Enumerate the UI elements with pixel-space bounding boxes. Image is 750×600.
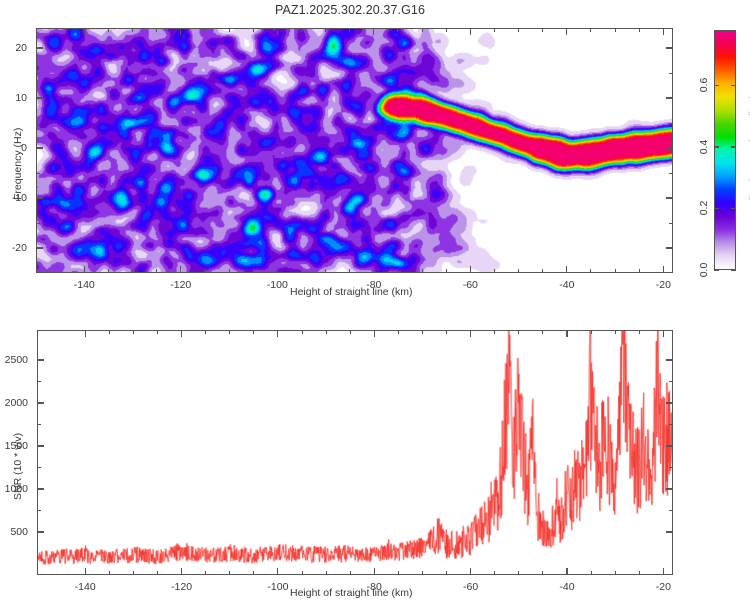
x-tick-minor xyxy=(590,269,591,273)
y-tick-minor xyxy=(669,223,673,224)
x-tick-major xyxy=(181,568,182,575)
x-tick-minor xyxy=(350,571,351,575)
y-tick-major xyxy=(666,445,673,446)
x-tick-minor xyxy=(325,28,326,32)
x-tick-minor xyxy=(132,269,133,273)
y-tick-label: 2500 xyxy=(0,354,28,366)
x-tick-minor xyxy=(132,28,133,32)
x-tick-major xyxy=(84,28,85,35)
x-tick-minor xyxy=(397,28,398,32)
snr-x-axis-title: Height of straight line (km) xyxy=(290,587,413,599)
y-tick-major xyxy=(36,247,43,248)
x-tick-label: -20 xyxy=(656,279,671,291)
colorbar-tick-label: 0.0 xyxy=(698,263,710,278)
x-tick-minor xyxy=(109,330,110,334)
spectrogram-plot xyxy=(36,28,673,273)
x-tick-minor xyxy=(542,28,543,32)
y-tick-minor xyxy=(669,510,673,511)
x-tick-minor xyxy=(350,330,351,334)
x-tick-label: -40 xyxy=(559,581,574,593)
x-tick-minor xyxy=(591,330,592,334)
x-tick-minor xyxy=(301,269,302,273)
x-tick-minor xyxy=(494,571,495,575)
y-tick-major xyxy=(36,47,43,48)
colorbar-gradient xyxy=(715,31,735,269)
x-tick-minor xyxy=(349,269,350,273)
spectrogram-image xyxy=(37,29,672,272)
colorbar xyxy=(714,30,736,270)
y-tick-major xyxy=(36,97,43,98)
snr-plot xyxy=(37,330,673,575)
colorbar-tick-label: 0.6 xyxy=(698,78,710,93)
x-tick-minor xyxy=(398,330,399,334)
x-tick-minor xyxy=(108,28,109,32)
y-tick-minor xyxy=(669,467,673,468)
y-tick-label: 20 xyxy=(0,42,27,54)
x-tick-major xyxy=(566,330,567,337)
x-tick-label: -100 xyxy=(267,279,288,291)
y-tick-major xyxy=(36,147,43,148)
x-tick-minor xyxy=(253,269,254,273)
x-tick-major xyxy=(373,266,374,273)
x-tick-minor xyxy=(615,269,616,273)
x-tick-label: -40 xyxy=(559,279,574,291)
x-tick-major xyxy=(181,330,182,337)
y-tick-minor xyxy=(36,123,40,124)
y-tick-major xyxy=(666,402,673,403)
y-tick-minor xyxy=(669,123,673,124)
colorbar-tick-label: 0.4 xyxy=(698,140,710,155)
x-tick-minor xyxy=(518,571,519,575)
y-tick-minor xyxy=(37,467,41,468)
x-tick-minor xyxy=(422,269,423,273)
x-tick-minor xyxy=(205,330,206,334)
x-tick-major xyxy=(85,330,86,337)
spectrogram-y-axis-title: Frequency (Hz) xyxy=(12,128,24,200)
x-tick-label: -120 xyxy=(171,581,192,593)
x-tick-minor xyxy=(109,571,110,575)
x-tick-major xyxy=(663,568,664,575)
x-tick-minor xyxy=(326,571,327,575)
x-tick-minor xyxy=(542,330,543,334)
x-tick-label: -140 xyxy=(74,279,95,291)
x-tick-minor xyxy=(302,571,303,575)
colorbar-tick xyxy=(714,269,719,270)
x-tick-minor xyxy=(133,571,134,575)
x-tick-minor xyxy=(494,28,495,32)
y-tick-major xyxy=(666,359,673,360)
x-tick-minor xyxy=(494,330,495,334)
x-tick-minor xyxy=(229,28,230,32)
colorbar-tick xyxy=(731,85,736,86)
y-tick-minor xyxy=(36,73,40,74)
x-tick-major xyxy=(663,28,664,35)
x-tick-minor xyxy=(518,330,519,334)
y-tick-major xyxy=(37,488,44,489)
colorbar-tick xyxy=(714,85,719,86)
x-tick-major xyxy=(277,28,278,35)
y-tick-minor xyxy=(37,381,41,382)
x-tick-major xyxy=(373,28,374,35)
x-tick-major xyxy=(277,266,278,273)
x-tick-minor xyxy=(542,571,543,575)
x-tick-major xyxy=(663,330,664,337)
x-tick-minor xyxy=(422,28,423,32)
x-tick-label: -120 xyxy=(170,279,191,291)
x-tick-minor xyxy=(518,28,519,32)
x-tick-minor xyxy=(108,269,109,273)
y-tick-label: -20 xyxy=(0,242,27,254)
colorbar-tick xyxy=(731,146,736,147)
y-tick-minor xyxy=(669,73,673,74)
y-tick-major xyxy=(36,197,43,198)
x-tick-minor xyxy=(591,571,592,575)
x-tick-minor xyxy=(615,571,616,575)
x-tick-minor xyxy=(325,269,326,273)
y-tick-label: 2000 xyxy=(0,397,28,409)
y-tick-major xyxy=(666,47,673,48)
x-tick-minor xyxy=(422,330,423,334)
x-tick-minor xyxy=(639,330,640,334)
x-tick-label: -20 xyxy=(656,581,671,593)
snr-y-axis-title: SNR (10 * v/v) xyxy=(12,433,24,500)
y-tick-minor xyxy=(36,223,40,224)
y-tick-minor xyxy=(36,173,40,174)
x-tick-major xyxy=(277,330,278,337)
x-tick-minor xyxy=(302,330,303,334)
x-tick-minor xyxy=(204,28,205,32)
x-tick-minor xyxy=(204,269,205,273)
x-tick-minor xyxy=(639,28,640,32)
x-tick-minor xyxy=(422,571,423,575)
x-tick-major xyxy=(84,266,85,273)
y-tick-label: 10 xyxy=(0,92,27,104)
y-tick-major xyxy=(37,445,44,446)
x-tick-minor xyxy=(639,269,640,273)
x-tick-major xyxy=(85,568,86,575)
y-tick-major xyxy=(666,488,673,489)
x-tick-major xyxy=(470,330,471,337)
x-tick-minor xyxy=(229,571,230,575)
snr-line-series xyxy=(38,331,672,574)
colorbar-tick xyxy=(714,208,719,209)
x-tick-minor xyxy=(326,330,327,334)
y-tick-label: 500 xyxy=(0,526,28,538)
x-tick-label: -140 xyxy=(75,581,96,593)
x-tick-minor xyxy=(494,269,495,273)
y-tick-minor xyxy=(37,510,41,511)
page-title: PAZ1.2025.302.20.37.G16 xyxy=(0,3,700,17)
x-tick-minor xyxy=(133,330,134,334)
x-tick-minor xyxy=(156,28,157,32)
x-tick-major xyxy=(566,568,567,575)
colorbar-tick-label: 0.2 xyxy=(698,201,710,216)
x-tick-minor xyxy=(615,330,616,334)
y-tick-minor xyxy=(37,424,41,425)
colorbar-tick xyxy=(731,208,736,209)
x-tick-major xyxy=(180,266,181,273)
x-tick-minor xyxy=(157,571,158,575)
y-tick-major xyxy=(666,147,673,148)
y-tick-major xyxy=(666,247,673,248)
y-tick-major xyxy=(666,531,673,532)
x-tick-label: -60 xyxy=(463,279,478,291)
y-tick-major xyxy=(37,359,44,360)
x-tick-minor xyxy=(253,571,254,575)
y-tick-major xyxy=(666,197,673,198)
x-tick-major xyxy=(374,330,375,337)
x-tick-minor xyxy=(253,330,254,334)
x-tick-major xyxy=(374,568,375,575)
y-tick-major xyxy=(37,531,44,532)
y-tick-major xyxy=(666,97,673,98)
x-tick-minor xyxy=(156,269,157,273)
x-tick-minor xyxy=(446,330,447,334)
x-tick-minor xyxy=(446,269,447,273)
x-tick-label: -100 xyxy=(267,581,288,593)
x-tick-minor xyxy=(590,28,591,32)
x-tick-minor xyxy=(253,28,254,32)
x-tick-minor xyxy=(542,269,543,273)
colorbar-tick xyxy=(731,269,736,270)
figure-root: PAZ1.2025.302.20.37.G16 -140-120-100-80-… xyxy=(0,0,750,600)
x-tick-minor xyxy=(397,269,398,273)
colorbar-tick xyxy=(714,146,719,147)
x-tick-minor xyxy=(518,269,519,273)
x-tick-minor xyxy=(205,571,206,575)
y-tick-minor xyxy=(669,381,673,382)
x-tick-major xyxy=(470,568,471,575)
y-tick-minor xyxy=(669,424,673,425)
x-tick-minor xyxy=(301,28,302,32)
x-tick-minor xyxy=(639,571,640,575)
x-tick-minor xyxy=(349,28,350,32)
x-tick-major xyxy=(470,266,471,273)
x-tick-major xyxy=(180,28,181,35)
x-tick-major xyxy=(277,568,278,575)
x-tick-minor xyxy=(446,28,447,32)
y-tick-minor xyxy=(669,173,673,174)
y-tick-major xyxy=(37,402,44,403)
x-tick-minor xyxy=(446,571,447,575)
x-tick-minor xyxy=(398,571,399,575)
x-tick-minor xyxy=(615,28,616,32)
x-tick-major xyxy=(663,266,664,273)
x-tick-minor xyxy=(157,330,158,334)
x-tick-major xyxy=(470,28,471,35)
x-tick-label: -60 xyxy=(463,581,478,593)
x-tick-major xyxy=(566,28,567,35)
x-tick-minor xyxy=(229,269,230,273)
spectrogram-x-axis-title: Height of straight line (km) xyxy=(290,286,413,298)
x-tick-major xyxy=(566,266,567,273)
x-tick-minor xyxy=(229,330,230,334)
